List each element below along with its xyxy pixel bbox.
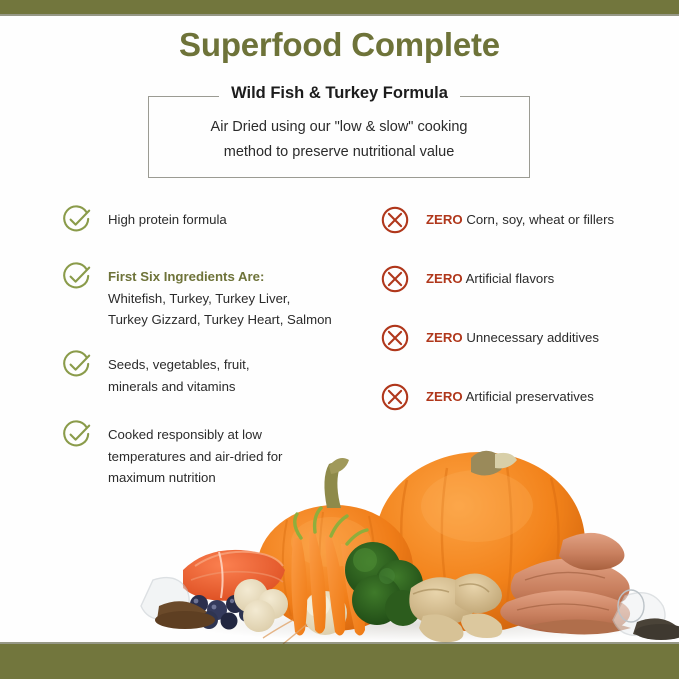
benefit-line: minerals and vitamins bbox=[108, 379, 236, 394]
formula-description: Air Dried using our "low & slow" cooking… bbox=[148, 115, 530, 165]
zero-label: ZERO bbox=[426, 212, 463, 227]
exclusion-item: ZERO Unnecessary additives bbox=[380, 323, 670, 382]
formula-description-line-2: method to preserve nutritional value bbox=[148, 140, 530, 165]
zero-label: ZERO bbox=[426, 389, 463, 404]
check-circle-icon bbox=[62, 262, 92, 292]
exclusion-item: ZERO Artificial preservatives bbox=[380, 382, 670, 412]
infographic-page: Superfood Complete Wild Fish & Turkey Fo… bbox=[0, 0, 679, 679]
benefit-text: High protein formula bbox=[108, 205, 362, 231]
zero-label: ZERO bbox=[426, 330, 463, 345]
formula-heading-text: Wild Fish & Turkey Formula bbox=[219, 84, 460, 102]
benefit-text: Seeds, vegetables, fruit, minerals and v… bbox=[108, 350, 362, 397]
benefit-item: High protein formula bbox=[62, 205, 362, 262]
benefit-line: Whitefish, Turkey, Turkey Liver, bbox=[108, 291, 290, 306]
page-title: Superfood Complete bbox=[0, 26, 679, 64]
benefit-line: High protein formula bbox=[108, 212, 227, 227]
x-circle-icon bbox=[380, 323, 410, 353]
benefit-text: First Six Ingredients Are: Whitefish, Tu… bbox=[108, 262, 362, 331]
formula-description-line-1: Air Dried using our "low & slow" cooking bbox=[148, 115, 530, 140]
benefit-line: Turkey Gizzard, Turkey Heart, Salmon bbox=[108, 312, 332, 327]
benefit-item: First Six Ingredients Are: Whitefish, Tu… bbox=[62, 262, 362, 350]
exclusion-item: ZERO Corn, soy, wheat or fillers bbox=[380, 205, 670, 264]
ginger-root bbox=[409, 573, 502, 642]
exclusion-text: ZERO Artificial flavors bbox=[426, 264, 670, 290]
exclusion-detail: Corn, soy, wheat or fillers bbox=[466, 212, 614, 227]
exclusion-text: ZERO Corn, soy, wheat or fillers bbox=[426, 205, 670, 231]
exclusion-detail: Unnecessary additives bbox=[466, 330, 599, 345]
x-circle-icon bbox=[380, 382, 410, 412]
bottom-olive-bar bbox=[0, 644, 679, 679]
check-circle-icon bbox=[62, 205, 92, 235]
benefit-item: Seeds, vegetables, fruit, minerals and v… bbox=[62, 350, 362, 420]
top-bar-underline bbox=[0, 14, 679, 16]
top-olive-bar bbox=[0, 0, 679, 14]
benefit-lead: First Six Ingredients Are: bbox=[108, 266, 362, 288]
exclusion-text: ZERO Artificial preservatives bbox=[426, 382, 670, 408]
exclusion-item: ZERO Artificial flavors bbox=[380, 264, 670, 323]
x-circle-icon bbox=[380, 264, 410, 294]
exclusion-detail: Artificial preservatives bbox=[466, 389, 594, 404]
zero-label: ZERO bbox=[426, 271, 463, 286]
exclusions-column: ZERO Corn, soy, wheat or fillers ZERO Ar… bbox=[380, 205, 670, 412]
benefit-line: Seeds, vegetables, fruit, bbox=[108, 357, 249, 372]
check-circle-icon bbox=[62, 350, 92, 380]
formula-heading: Wild Fish & Turkey Formula bbox=[0, 84, 679, 103]
superfood-ingredients-photo bbox=[155, 420, 679, 644]
exclusion-detail: Artificial flavors bbox=[466, 271, 555, 286]
exclusion-text: ZERO Unnecessary additives bbox=[426, 323, 670, 349]
x-circle-icon bbox=[380, 205, 410, 235]
check-circle-icon bbox=[62, 420, 92, 450]
